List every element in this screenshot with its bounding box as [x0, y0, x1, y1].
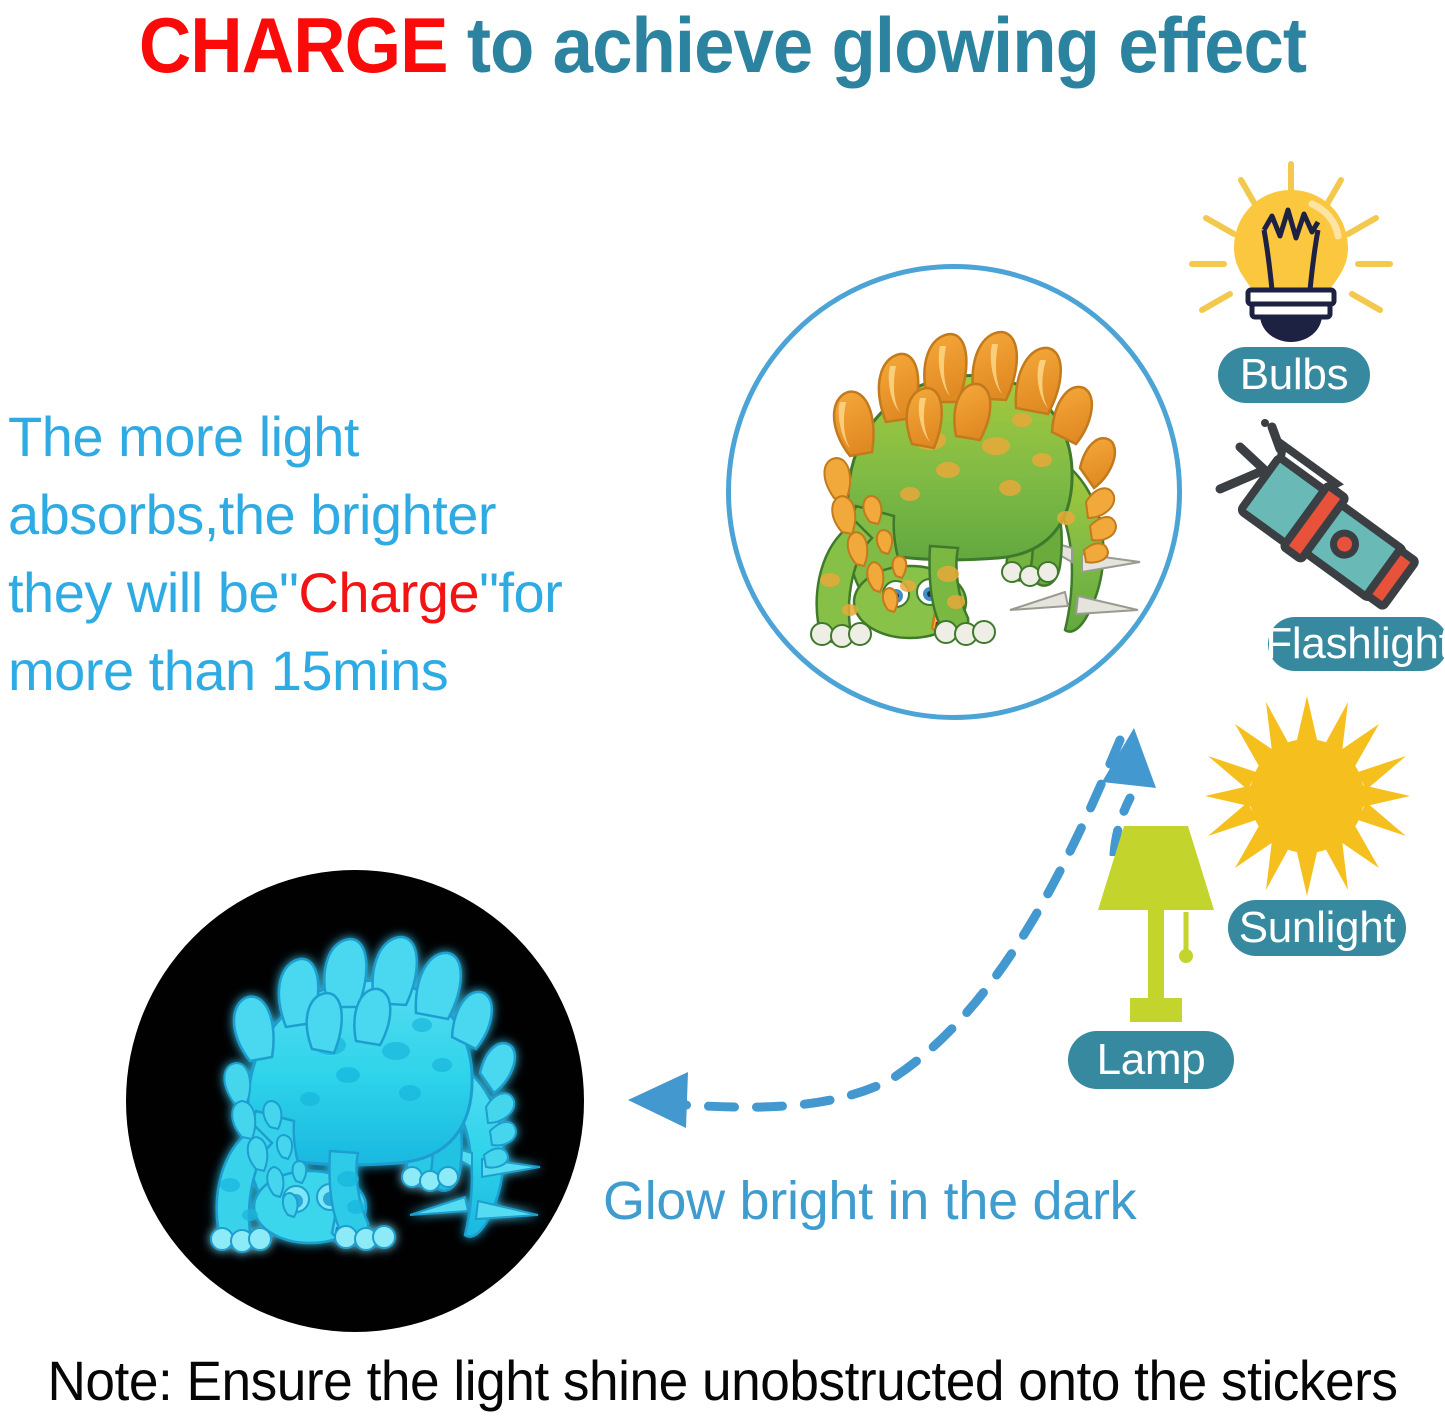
- description-line-4: more than 15mins: [8, 632, 748, 710]
- description-line-2: absorbs,the brighter: [8, 476, 748, 554]
- title-rest: to achieve glowing effect: [448, 1, 1307, 89]
- dinosaur-glowing-illustration: [160, 915, 560, 1295]
- description-line-3-b: "for: [479, 561, 562, 624]
- flashlight-icon: [1210, 415, 1440, 620]
- flashlight-label: Flashlight: [1265, 619, 1445, 669]
- title-highlight: CHARGE: [139, 1, 448, 89]
- lamp-icon: [1086, 818, 1226, 1028]
- sunlight-label: Sunlight: [1239, 903, 1396, 953]
- description-line-1: The more light: [8, 398, 748, 476]
- lamp-label: Lamp: [1097, 1035, 1206, 1085]
- light-source-label-sunlight[interactable]: Sunlight: [1228, 900, 1406, 956]
- light-source-label-bulbs[interactable]: Bulbs: [1218, 347, 1370, 403]
- infographic-canvas: CHARGE to achieve glowing effect The mor…: [0, 0, 1445, 1426]
- bulbs-label: Bulbs: [1240, 350, 1349, 400]
- footer-note: Note: Ensure the light shine unobstructe…: [36, 1348, 1409, 1414]
- dinosaur-lit-illustration: [760, 310, 1160, 690]
- description-line-3-a: they will be": [8, 561, 298, 624]
- description-charge-highlight: Charge: [298, 561, 479, 624]
- description-line-3: they will be"Charge"for: [8, 554, 748, 632]
- bulb-icon: [1186, 160, 1396, 355]
- glow-caption: Glow bright in the dark: [603, 1170, 1136, 1232]
- description-text: The more light absorbs,the brighter they…: [8, 398, 748, 710]
- page-title: CHARGE to achieve glowing effect: [51, 2, 1395, 88]
- sun-icon: [1200, 694, 1415, 899]
- light-source-label-lamp[interactable]: Lamp: [1068, 1031, 1234, 1089]
- light-source-label-flashlight[interactable]: Flashlight: [1268, 617, 1445, 671]
